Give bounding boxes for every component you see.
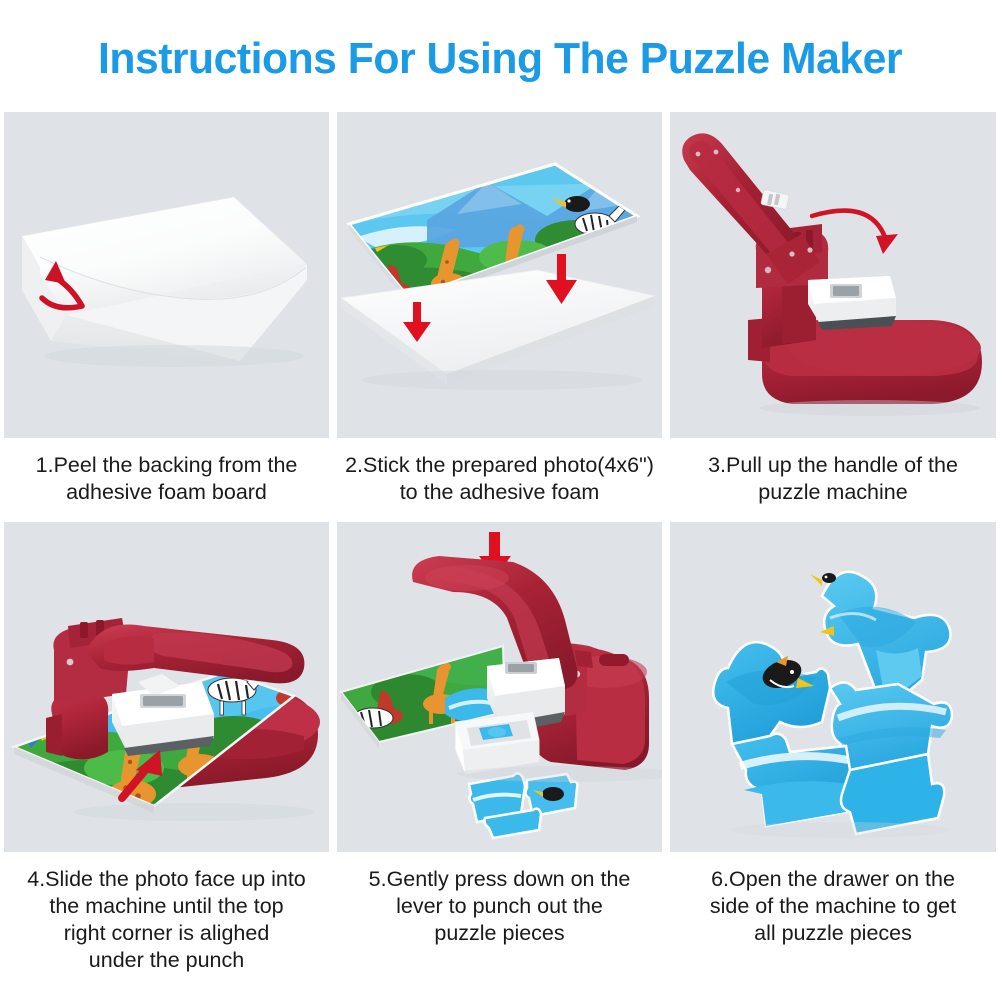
step-caption-1: 1.Peel the backing from the adhesive foa…: [0, 438, 333, 522]
machine-handle-up-illustration: [670, 112, 996, 438]
step-line-5a: Gently press down on the: [387, 867, 631, 891]
punch-head-4: [112, 674, 214, 756]
step-line-1a: Peel the backing from the: [54, 453, 298, 477]
step-cell-4: 4.Slide the photo face up into the machi…: [0, 522, 333, 974]
steps-grid: 1.Peel the backing from the adhesive foa…: [0, 112, 1000, 974]
step-number-1: 1.: [36, 453, 54, 477]
panel-machine-handle-up: [670, 112, 996, 438]
panel-collect-puzzle-pieces: [670, 522, 996, 852]
step-line-6c: all puzzle pieces: [676, 920, 990, 947]
step-line-1b: adhesive foam board: [10, 479, 323, 506]
step-number-3: 3.: [708, 453, 726, 477]
step-number-2: 2.: [345, 453, 363, 477]
foam-board-illustration: [4, 112, 329, 438]
drawer-open: [455, 712, 539, 774]
step-cell-1: 1.Peel the backing from the adhesive foa…: [0, 112, 333, 522]
instruction-sheet: Instructions For Using The Puzzle Maker: [0, 0, 1000, 1000]
step-line-5c: puzzle pieces: [343, 920, 656, 947]
step-line-4d: under the punch: [10, 947, 323, 974]
panel-photo-onto-foam: [337, 112, 662, 438]
puzzle-pieces-illustration: [670, 522, 996, 852]
step-line-3b: puzzle machine: [676, 479, 990, 506]
press-lever-down-illustration: [337, 522, 662, 852]
step-line-5b: lever to punch out the: [343, 893, 656, 920]
panel-press-lever-down: [337, 522, 662, 852]
page-title: Instructions For Using The Puzzle Maker: [15, 34, 985, 84]
step-line-6a: Open the drawer on the: [729, 867, 955, 891]
panel-photo-slide-in: [4, 522, 329, 852]
punch-head: [808, 276, 896, 330]
step-caption-5: 5.Gently press down on the lever to punc…: [333, 852, 666, 964]
step-cell-2: 2.Stick the prepared photo(4x6") to the …: [333, 112, 666, 522]
lever-handle: [682, 133, 820, 284]
step-number-6: 6.: [711, 867, 729, 891]
step-caption-3: 3.Pull up the handle of the puzzle machi…: [666, 438, 1000, 522]
step-line-6b: side of the machine to get: [676, 893, 990, 920]
step-cell-6: 6.Open the drawer on the side of the mac…: [666, 522, 1000, 974]
step-caption-4: 4.Slide the photo face up into the machi…: [0, 852, 333, 974]
step-line-4b: the machine until the top: [10, 893, 323, 920]
photo-slide-in-illustration: [4, 522, 329, 852]
step-line-2a: Stick the prepared photo(4x6"): [363, 453, 654, 477]
step-number-4: 4.: [27, 867, 45, 891]
step-line-4a: Slide the photo face up into: [45, 867, 306, 891]
step-caption-6: 6.Open the drawer on the side of the mac…: [666, 852, 1000, 964]
step-line-3a: Pull up the handle of the: [726, 453, 958, 477]
loose-puzzle-pieces: [469, 773, 577, 838]
step-line-2b: to the adhesive foam: [343, 479, 656, 506]
step-number-5: 5.: [369, 867, 387, 891]
step-caption-2: 2.Stick the prepared photo(4x6") to the …: [333, 438, 666, 522]
panel-foam-board-peel: [4, 112, 329, 438]
step-cell-5: 5.Gently press down on the lever to punc…: [333, 522, 666, 974]
step-line-4c: right corner is alighed: [10, 920, 323, 947]
step-cell-3: 3.Pull up the handle of the puzzle machi…: [666, 112, 1000, 522]
photo-onto-foam-illustration: [337, 112, 662, 438]
